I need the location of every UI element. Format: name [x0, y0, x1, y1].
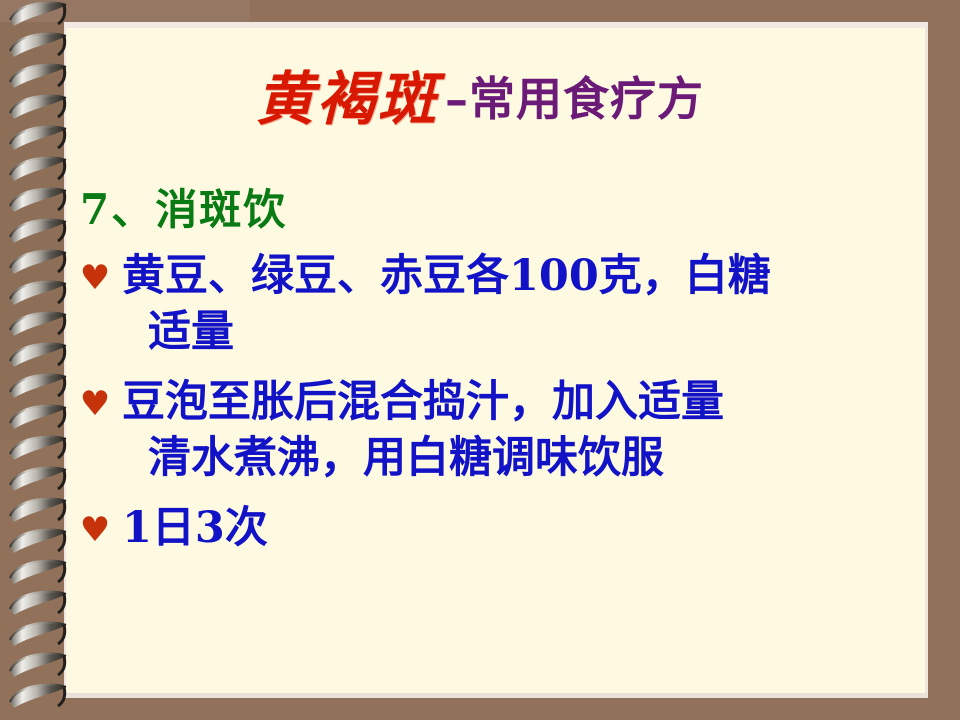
title-main-text: 黄褐斑 [256, 65, 439, 133]
list-item: ♥ 黄豆、绿豆、赤豆各100克，白糖 适量 [78, 249, 928, 361]
heart-bullet-icon: ♥ [78, 249, 112, 295]
list-item-line: 清水煮沸，用白糖调味饮服 [122, 431, 928, 487]
title-subtitle-text: –常用食疗方 [445, 72, 704, 126]
list-item-line: 适量 [122, 305, 928, 361]
slide-canvas: 黄褐斑–常用食疗方 7、消斑饮 ♥ 黄豆、绿豆、赤豆各100克，白糖 适量 ♥ … [0, 0, 960, 720]
heart-bullet-icon: ♥ [78, 501, 112, 547]
list-item-text: 豆泡至胀后混合捣汁，加入适量 清水煮沸，用白糖调味饮服 [122, 375, 928, 487]
backdrop-band-top [0, 0, 250, 22]
list-item-line: 黄豆、绿豆、赤豆各100克，白糖 [122, 249, 928, 305]
section-heading: 7、消斑饮 [80, 186, 928, 233]
list-item: ♥ 1日3次 [78, 501, 928, 557]
heart-bullet-icon: ♥ [78, 375, 112, 421]
slide-title: 黄褐斑–常用食疗方 [0, 52, 960, 136]
list-item-line: 豆泡至胀后混合捣汁，加入适量 [122, 375, 928, 431]
list-item-text: 黄豆、绿豆、赤豆各100克，白糖 适量 [122, 249, 928, 361]
slide-body: 7、消斑饮 ♥ 黄豆、绿豆、赤豆各100克，白糖 适量 ♥ 豆泡至胀后混合捣汁，… [78, 186, 928, 556]
list-item: ♥ 豆泡至胀后混合捣汁，加入适量 清水煮沸，用白糖调味饮服 [78, 375, 928, 487]
list-item-text: 1日3次 [122, 501, 928, 557]
